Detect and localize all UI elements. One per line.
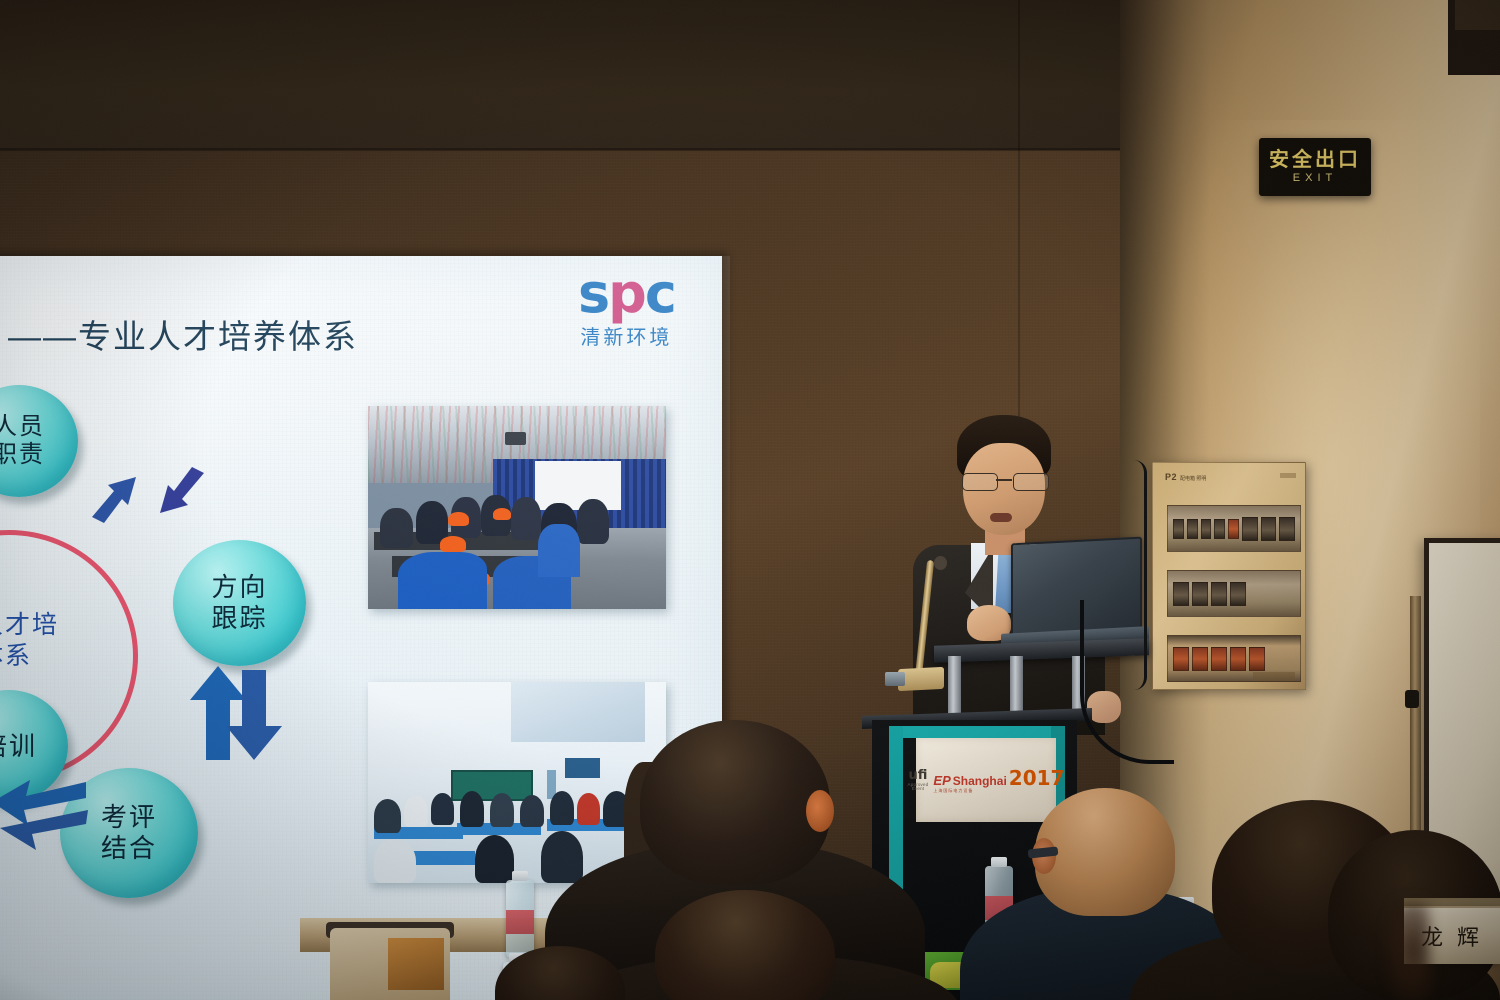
ufi-logo-text: ufi [908,769,929,782]
ufi-logo: ufi Approved Event [908,769,929,792]
ep-year-text: 2017 [1009,768,1065,788]
ep-shanghai-logo: EP Shanghai 2017 上海国际电力设备 [933,768,1064,793]
electrical-panel: P2 配电箱 照明 [1152,462,1306,690]
ceiling-right-strip [1455,0,1500,30]
arrow-pair-lower-right [178,660,298,770]
ep-city-text: Shanghai [953,775,1007,787]
bubble-direction-tracking: 方向跟踪 [173,540,306,666]
wall-seam-horizontal [0,148,1152,151]
exit-sign-chinese: 安全出口 [1269,150,1361,170]
panel-label-sub: 配电箱 照明 [1180,476,1206,482]
foreground-blur [1388,900,1430,1000]
panel-nameplate [1253,672,1295,681]
center-circle-label: 人才培体系 [0,610,118,673]
audience-member-head [640,720,830,885]
arrow-pair-top [84,455,214,555]
audience-member-ear [806,790,834,832]
speaker-glasses [962,473,1047,489]
microphone-head [934,556,947,570]
breaker-row [1167,570,1301,617]
panel-corner-mark [1280,473,1296,478]
panel-label: P2 配电箱 照明 [1165,472,1206,482]
slide-title: ——专业人才培养体系 [8,310,358,358]
wall-cable [1134,460,1147,690]
speaker-mouth [990,513,1012,522]
spc-logo-chinese: 清新环境 [578,321,675,350]
ceiling [0,0,1150,150]
breaker-row [1167,505,1301,552]
podium-event-sign: ufi Approved Event EP Shanghai 2017 上海国际… [916,738,1056,822]
table-wood-block [388,938,444,990]
name-placard-text: 龙 辉 [1421,920,1483,952]
water-bottle [506,880,534,958]
ep-brand-text: EP [933,774,950,787]
spc-logo: spc 清新环境 [578,268,675,350]
microphone-clamp [885,672,905,686]
slide-photo-training-room [368,406,666,609]
panel-label-code: P2 [1165,472,1177,482]
ufi-logo-subtext: Approved Event [908,783,929,792]
exit-sign-english: EXIT [1293,173,1337,184]
podium-accent-top [889,726,1065,738]
conference-photo-scene: 安全出口 EXIT P2 配电箱 照明 spc 清新环境 ——专业人才培养体系 [0,0,1500,1000]
slide-photo-classroom [368,682,666,883]
spc-logo-letters: spc [578,268,675,319]
whiteboard-knob [1405,690,1419,708]
exit-sign: 安全出口 EXIT [1259,138,1371,196]
arrow-pair-bottom-left [0,770,96,860]
